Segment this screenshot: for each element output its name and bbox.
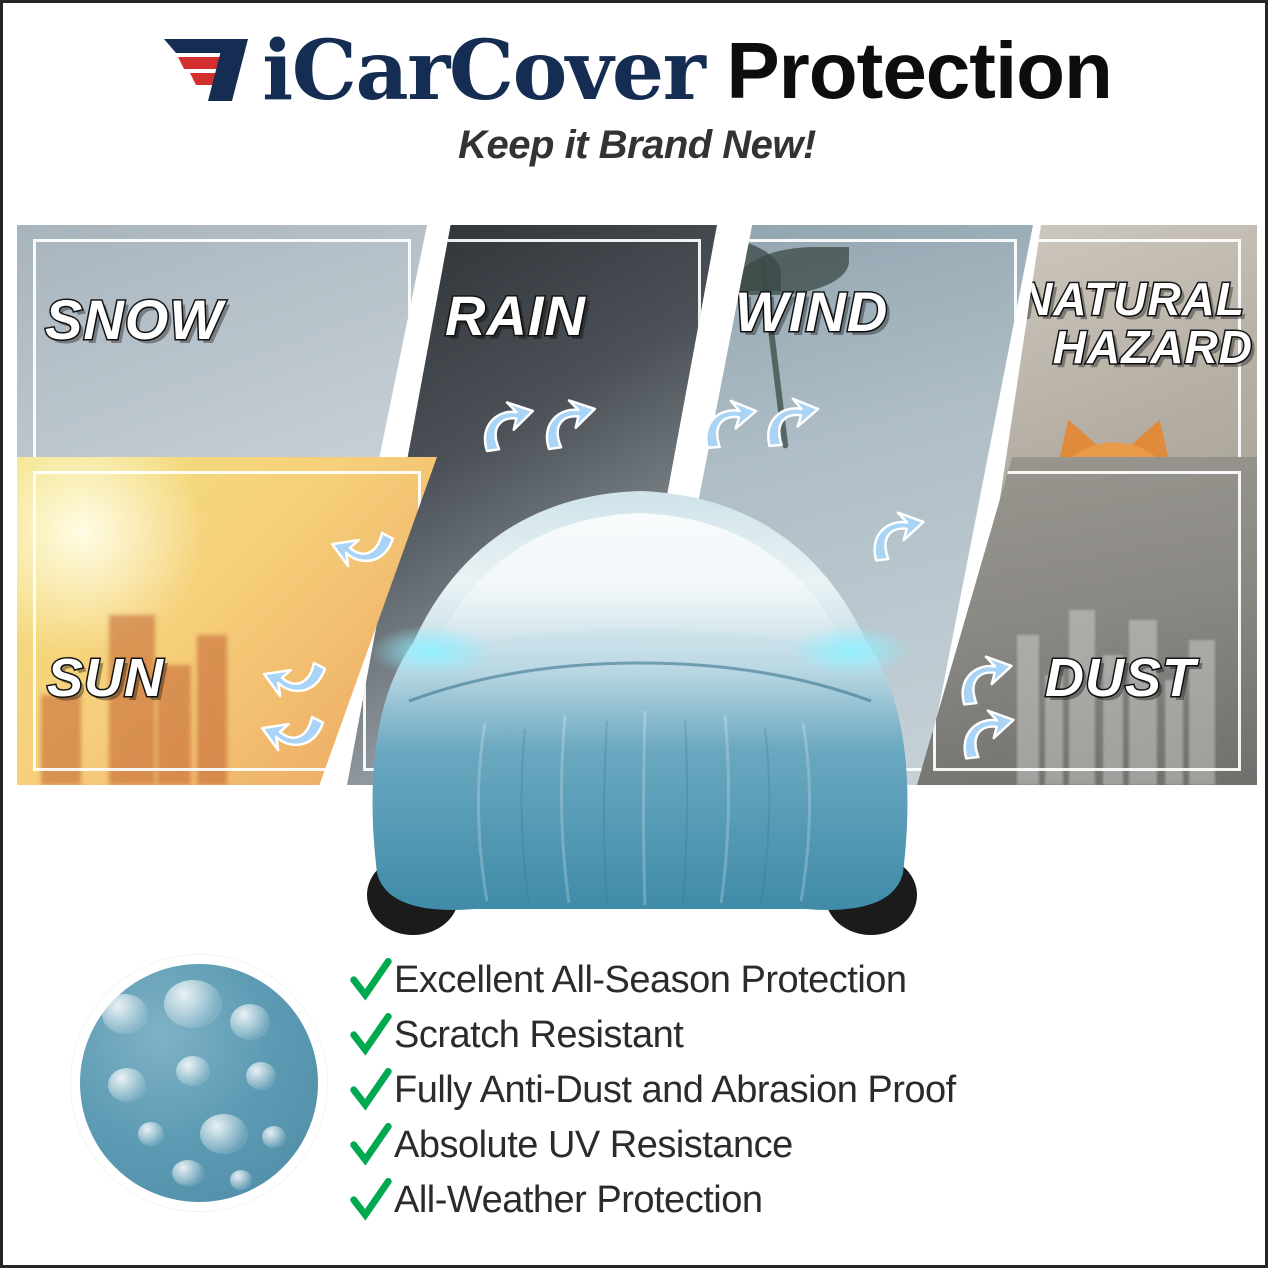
feature-label: Absolute UV Resistance (394, 1124, 793, 1167)
covered-car-photo (335, 443, 945, 943)
feature-label: Excellent All-Season Protection (394, 959, 907, 1002)
feature-label: Scratch Resistant (394, 1014, 683, 1057)
check-icon (348, 1123, 394, 1169)
shield-glow-right (789, 625, 913, 677)
feature-list: Excellent All-Season Protection Scratch … (348, 953, 1168, 1228)
feature-item: Excellent All-Season Protection (348, 953, 1168, 1008)
panel-label-wind: WIND (735, 285, 888, 339)
check-icon (348, 958, 394, 1004)
feature-label: Fully Anti-Dust and Abrasion Proof (394, 1069, 956, 1112)
panel-label-sun: SUN (47, 653, 164, 705)
feature-label: All-Weather Protection (394, 1179, 762, 1222)
panel-label-dust: DUST (1045, 653, 1196, 705)
brand-lockup: iCarCover Protection (3, 25, 1268, 117)
brand-suffix: Protection (726, 31, 1112, 111)
city-skyline-icon (1017, 635, 1039, 785)
feature-item: Fully Anti-Dust and Abrasion Proof (348, 1063, 1168, 1118)
check-icon (348, 1068, 394, 1114)
check-icon (348, 1013, 394, 1059)
icarcover-flag-logo-icon (162, 35, 258, 103)
water-beading-fabric-closeup (71, 955, 327, 1211)
panel-label-snow: SNOW (45, 293, 223, 347)
panel-label-rain: RAIN (445, 289, 586, 343)
check-icon (348, 1178, 394, 1224)
product-infographic: iCarCover Protection Keep it Brand New! … (0, 0, 1268, 1268)
feature-item: Absolute UV Resistance (348, 1118, 1168, 1173)
header: iCarCover Protection Keep it Brand New! (3, 25, 1268, 168)
brand-name: iCarCover (262, 30, 704, 112)
building (41, 695, 81, 785)
feature-item: All-Weather Protection (348, 1173, 1168, 1228)
shield-glow-left (369, 625, 493, 677)
tagline: Keep it Brand New! (3, 123, 1268, 168)
building (197, 635, 227, 785)
feature-item: Scratch Resistant (348, 1008, 1168, 1063)
